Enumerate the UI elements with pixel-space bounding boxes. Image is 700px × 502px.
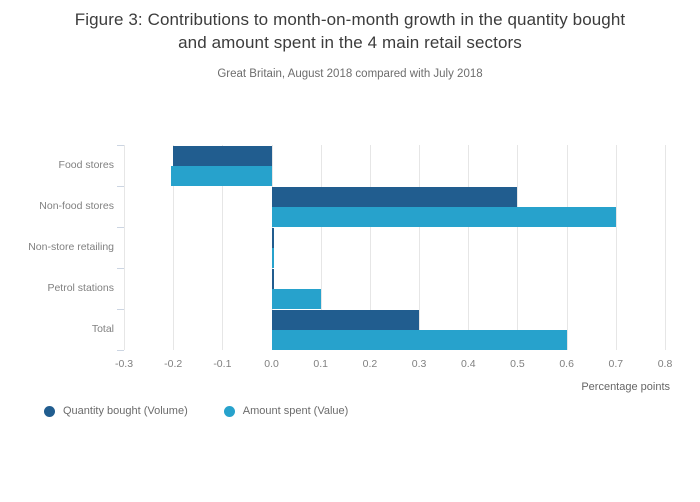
y-axis-tick-1 [117,186,124,187]
page-title: Figure 3: Contributions to month-on-mont… [30,8,670,54]
bar-food-stores-value [171,166,272,186]
y-axis-label-petrol-stations: Petrol stations [4,282,114,294]
x-axis-tick-label-0.8: 0.8 [658,358,673,370]
x-axis-tick-label-0.5: 0.5 [510,358,525,370]
x-axis-tick-label-0.2: 0.2 [363,358,378,370]
x-axis-tick-label--0.3: -0.3 [115,358,133,370]
y-axis-label-food-stores: Food stores [4,159,114,171]
y-axis-tick-0 [117,145,124,146]
bar-food-stores-volume [173,146,271,166]
x-axis-labels: -0.3-0.2-0.10.00.10.20.30.40.50.60.70.8 [124,352,665,372]
legend-item-value[interactable]: Amount spent (Value) [224,405,349,417]
legend-swatch-circle-icon [44,406,55,417]
legend-item-volume[interactable]: Quantity bought (Volume) [44,405,188,417]
y-axis-label-non-food-stores: Non-food stores [4,200,114,212]
y-axis-tick-2 [117,227,124,228]
legend-label: Amount spent (Value) [243,405,349,417]
bar-total-value [272,330,567,350]
y-axis-tick-5 [117,350,124,351]
bar-non-store-retailing-value [272,248,274,268]
gridline-x--0.3 [124,145,125,350]
y-axis-labels: Food storesNon-food storesNon-store reta… [0,145,114,350]
y-axis-label-total: Total [4,323,114,335]
chart-header: Figure 3: Contributions to month-on-mont… [0,0,700,80]
x-axis-tick-label-0.0: 0.0 [264,358,279,370]
x-axis-tick-label-0.1: 0.1 [313,358,328,370]
y-axis-line [124,145,125,350]
bar-non-food-stores-volume [272,187,518,207]
x-axis-tick-label--0.2: -0.2 [164,358,182,370]
chart-legend: Quantity bought (Volume)Amount spent (Va… [44,405,348,417]
gridline-x-0.4 [468,145,469,350]
gridline-x-0.2 [370,145,371,350]
y-axis-label-non-store-retailing: Non-store retailing [4,241,114,253]
x-axis-tick-label-0.4: 0.4 [461,358,476,370]
y-axis-tick-3 [117,268,124,269]
x-axis-tick-label-0.6: 0.6 [559,358,574,370]
x-axis-title: Percentage points [0,381,670,393]
chart-title-line-1: Figure 3: Contributions to month-on-mont… [75,10,625,29]
legend-swatch-circle-icon [224,406,235,417]
legend-label: Quantity bought (Volume) [63,405,188,417]
bar-total-volume [272,310,420,330]
gridline-x-0.6 [567,145,568,350]
y-axis-tick-4 [117,309,124,310]
gridline-x-0.1 [321,145,322,350]
gridline-x--0.2 [173,145,174,350]
gridline-x-0.5 [517,145,518,350]
chart-subtitle: Great Britain, August 2018 compared with… [0,68,700,80]
gridline-x-0.8 [665,145,666,350]
gridline-x-0.7 [616,145,617,350]
gridline-x-0.3 [419,145,420,350]
chart-title-line-2: and amount spent in the 4 main retail se… [178,33,522,52]
bar-non-food-stores-value [272,207,616,227]
bar-petrol-stations-value [272,289,321,309]
gridline-x-0.0 [272,145,273,350]
bar-petrol-stations-volume [272,269,274,289]
bars-container [124,145,665,350]
x-axis-tick-label--0.1: -0.1 [213,358,231,370]
gridline-x--0.1 [222,145,223,350]
x-axis-tick-label-0.7: 0.7 [609,358,624,370]
bar-non-store-retailing-volume [272,228,274,248]
x-axis-tick-label-0.3: 0.3 [412,358,427,370]
